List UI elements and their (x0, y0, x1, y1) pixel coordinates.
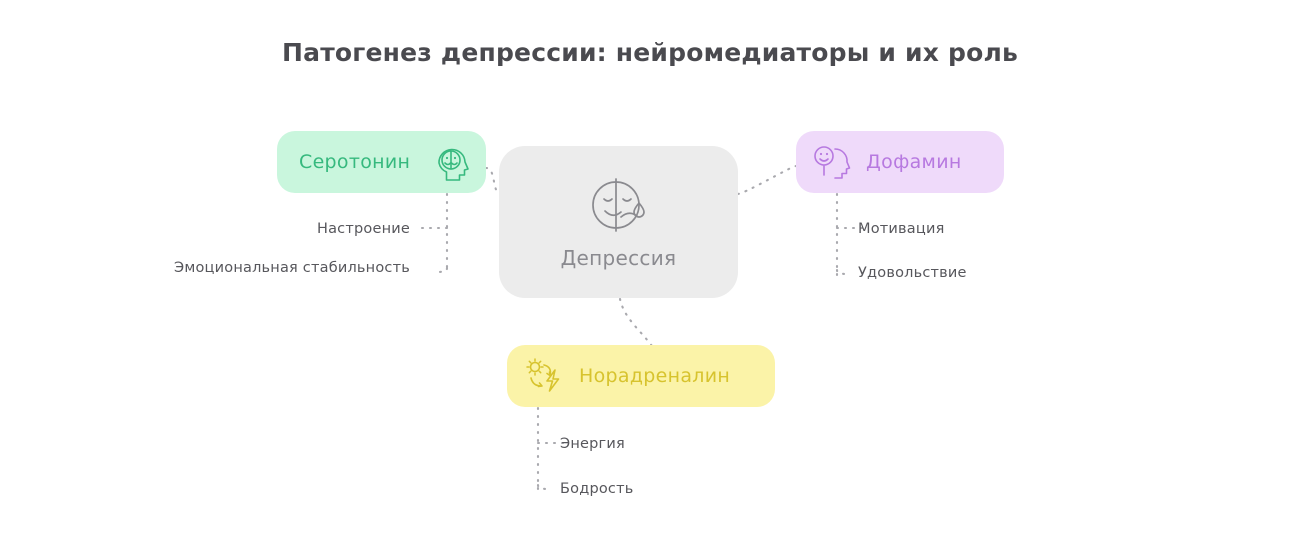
branch-node-serotonin[interactable]: Серотонин (277, 131, 486, 193)
sub-label-serotonin-1: Настроение (110, 221, 410, 237)
sub-label-dopamine-2: Удовольствие (858, 265, 967, 281)
smiley-head-profile-icon (812, 143, 852, 181)
diagram-canvas: Патогенез депрессии: нейромедиаторы и их… (0, 0, 1300, 546)
branch-label-dopamine: Дофамин (866, 151, 962, 173)
center-node-depression[interactable]: Депрессия (499, 146, 738, 298)
sub-label-serotonin-2: Эмоциональная стабильность (110, 260, 410, 276)
sub-label-noradrenaline-2: Бодрость (560, 481, 633, 497)
branch-node-noradrenaline[interactable]: Норадреналин (507, 345, 775, 407)
branch-label-serotonin: Серотонин (299, 151, 410, 173)
head-with-face-icon (434, 143, 470, 181)
sub-label-dopamine-1: Мотивация (858, 221, 945, 237)
sub-label-noradrenaline-1: Энергия (560, 436, 625, 452)
branch-label-noradrenaline: Норадреналин (579, 365, 730, 387)
branch-node-dopamine[interactable]: Дофамин (796, 131, 1004, 193)
split-face-happy-sad-icon (586, 174, 652, 236)
center-node-label: Депрессия (561, 246, 677, 270)
sun-lightning-energy-icon (523, 356, 565, 396)
page-title: Патогенез депрессии: нейромедиаторы и их… (0, 38, 1300, 67)
